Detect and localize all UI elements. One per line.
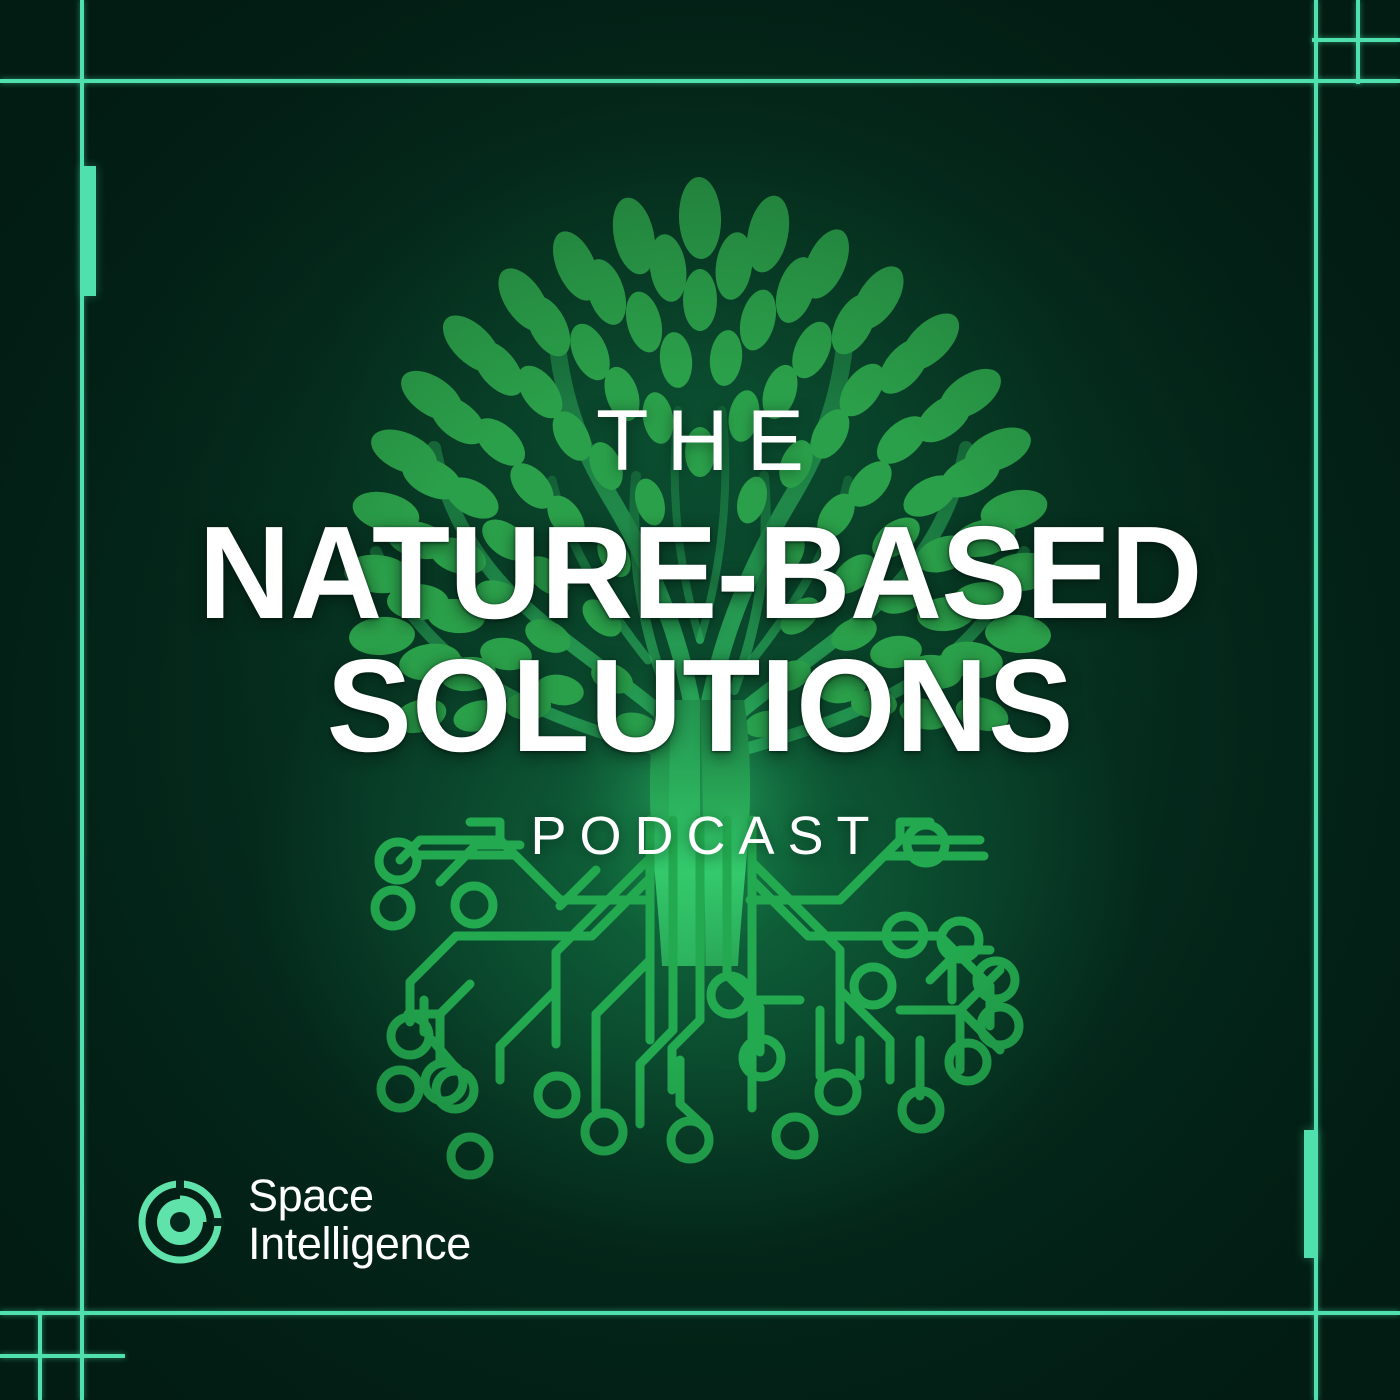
brand-lockup: Space Intelligence — [136, 1172, 471, 1267]
title-block: THE NATURE-BASED SOLUTIONS PODCAST — [0, 398, 1400, 867]
space-intelligence-logo-icon — [136, 1174, 228, 1266]
title-line-one: NATURE-BASED — [21, 508, 1379, 637]
brand-name: Space Intelligence — [248, 1172, 471, 1267]
brand-name-line-one: Space — [248, 1172, 471, 1220]
title-the: THE — [0, 398, 1400, 484]
podcast-cover-art: THE NATURE-BASED SOLUTIONS PODCAST Spa — [0, 0, 1400, 1400]
subtitle-podcast: PODCAST — [0, 805, 1400, 867]
brand-name-line-two: Intelligence — [248, 1220, 471, 1268]
title-line-two: SOLUTIONS — [21, 641, 1379, 770]
